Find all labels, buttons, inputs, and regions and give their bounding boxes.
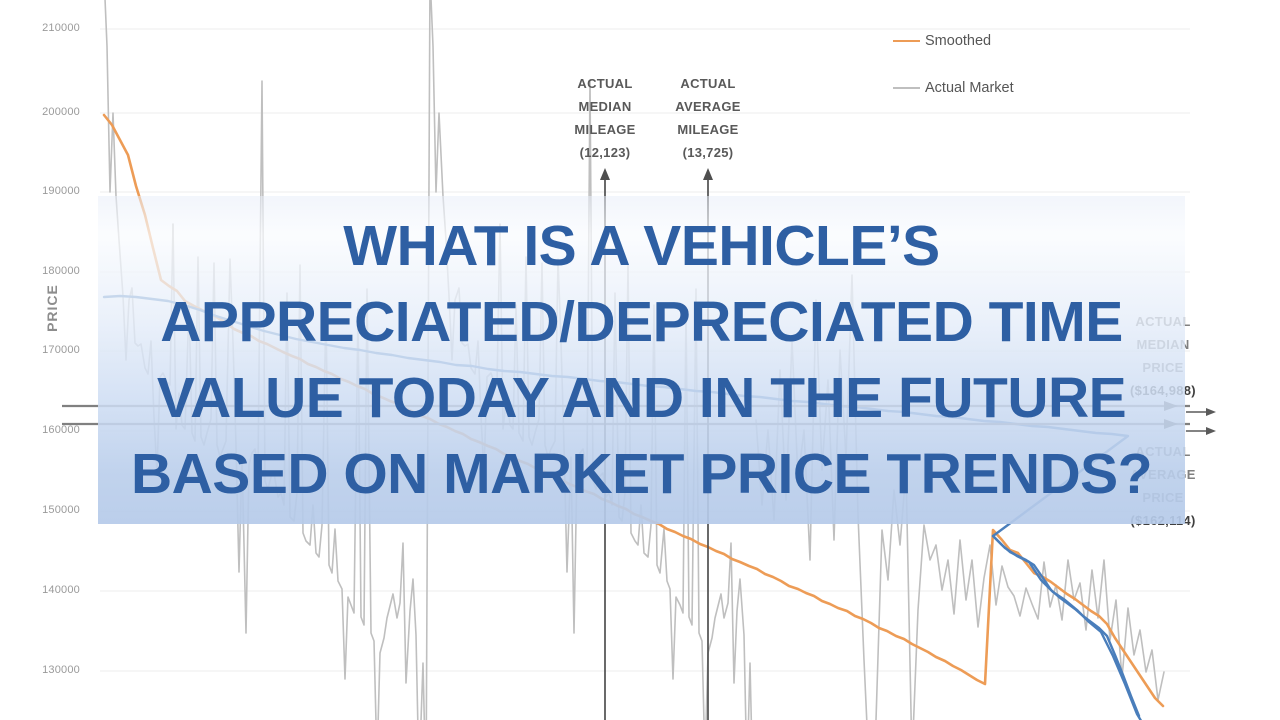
legend-item-smoothed[interactable]: Smoothed bbox=[893, 28, 1123, 54]
slide-canvas: PRICE 210000 200000 190000 180000 170000… bbox=[0, 0, 1280, 720]
y-tick-180000: 180000 bbox=[10, 265, 80, 277]
legend-item-actual-market[interactable]: Actual Market bbox=[893, 75, 1123, 101]
slide-title: WHAT IS A VEHICLE’S APPRECIATED/DEPRECIA… bbox=[98, 196, 1185, 524]
y-tick-200000: 200000 bbox=[10, 106, 80, 118]
legend-swatch-smoothed-icon bbox=[893, 40, 920, 42]
y-tick-140000: 140000 bbox=[10, 584, 80, 596]
callout-median-mileage-value: (12,123) bbox=[545, 141, 665, 164]
legend-swatch-actual-market-icon bbox=[893, 87, 920, 89]
y-tick-150000: 150000 bbox=[10, 504, 80, 516]
y-tick-190000: 190000 bbox=[10, 185, 80, 197]
y-tick-210000: 210000 bbox=[10, 22, 80, 34]
legend-label-actual-market: Actual Market bbox=[925, 80, 1014, 96]
y-tick-130000: 130000 bbox=[10, 664, 80, 676]
y-tick-160000: 160000 bbox=[10, 424, 80, 436]
callout-average-mileage-line2: AVERAGE bbox=[648, 95, 768, 118]
callout-median-mileage-line1: ACTUAL bbox=[545, 72, 665, 95]
slide-title-line-4: BASED ON MARKET PRICE TRENDS? bbox=[131, 436, 1152, 512]
slide-title-line-3: VALUE TODAY AND IN THE FUTURE bbox=[157, 360, 1126, 436]
callout-average-mileage-line3: MILEAGE bbox=[648, 118, 768, 141]
callout-median-mileage-line2: MEDIAN bbox=[545, 95, 665, 118]
chart-legend: Smoothed Actual Market bbox=[893, 28, 1123, 122]
slide-title-line-1: WHAT IS A VEHICLE’S bbox=[343, 208, 939, 284]
callout-average-mileage-line1: ACTUAL bbox=[648, 72, 768, 95]
legend-label-smoothed: Smoothed bbox=[925, 33, 991, 49]
callout-average-mileage-value: (13,725) bbox=[648, 141, 768, 164]
y-tick-170000: 170000 bbox=[10, 344, 80, 356]
slide-title-line-2: APPRECIATED/DEPRECIATED TIME bbox=[160, 284, 1122, 360]
callout-median-mileage: ACTUAL MEDIAN MILEAGE (12,123) bbox=[545, 72, 665, 164]
callout-median-mileage-line3: MILEAGE bbox=[545, 118, 665, 141]
callout-average-mileage: ACTUAL AVERAGE MILEAGE (13,725) bbox=[648, 72, 768, 164]
